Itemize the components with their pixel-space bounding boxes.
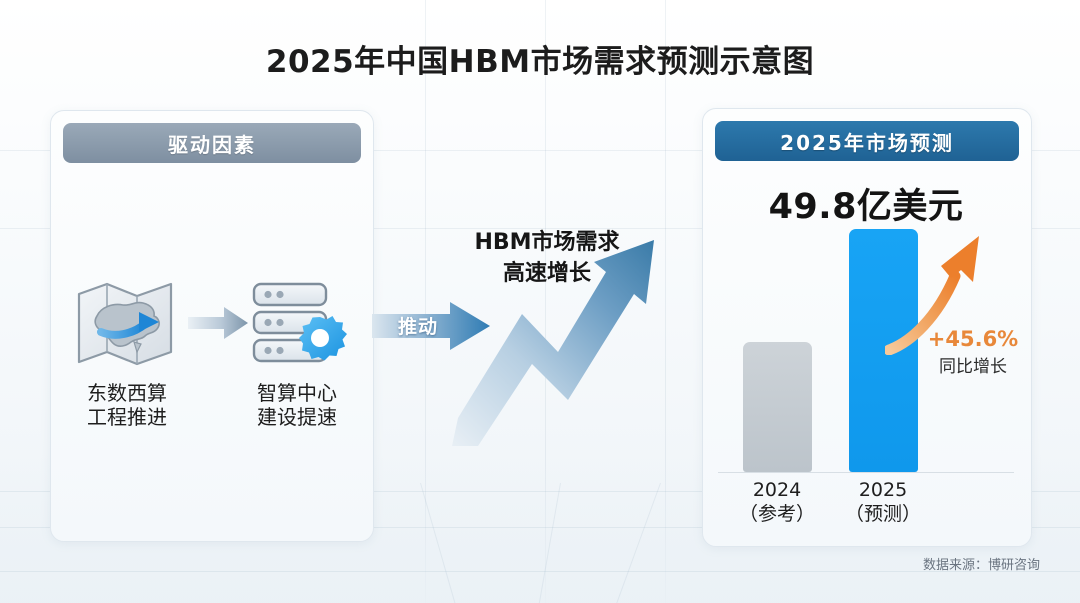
- bar-label-2024-note: （参考）: [739, 503, 815, 525]
- growth-caption-line2: 高速增长: [503, 261, 591, 286]
- bar-2024: [743, 342, 812, 472]
- factor-label-line2: 工程推进: [87, 405, 167, 429]
- bar-label-2025: 2025 （预测）: [818, 478, 948, 527]
- factor-east-data-west-compute: 东数西算 工程推进: [62, 275, 192, 430]
- factor-label: 智算中心 建设提速: [232, 381, 362, 430]
- bar-label-2025-year: 2025: [859, 479, 907, 501]
- factor-label-line1: 智算中心: [257, 381, 337, 405]
- china-map-icon: [62, 275, 192, 375]
- infographic-canvas: 2025年中国HBM市场需求预测示意图 驱动因素: [0, 0, 1080, 603]
- forecast-card-header: 2025年市场预测: [715, 121, 1019, 161]
- server-gear-icon: [232, 275, 362, 375]
- factor-label: 东数西算 工程推进: [62, 381, 192, 430]
- growth-percentage-label: 同比增长: [918, 352, 1028, 377]
- growth-percentage: +45.6%: [918, 327, 1028, 351]
- factor-label-line1: 东数西算: [87, 381, 167, 405]
- chart-baseline: [718, 472, 1014, 473]
- factor-label-line2: 建设提速: [257, 405, 337, 429]
- factor-intelligent-compute-center: 智算中心 建设提速: [232, 275, 362, 430]
- headline-value: 49.8亿美元: [702, 178, 1030, 229]
- page-title: 2025年中国HBM市场需求预测示意图: [0, 36, 1080, 81]
- bar-label-2024-year: 2024: [753, 479, 801, 501]
- growth-caption-line1: HBM市场需求: [474, 230, 619, 255]
- source-note: 数据来源：博研咨询: [830, 554, 1040, 573]
- growth-caption: HBM市场需求 高速增长: [452, 228, 642, 290]
- bar-label-2025-note: （预测）: [845, 503, 921, 525]
- drivers-card-header: 驱动因素: [63, 123, 361, 163]
- push-label: 推动: [383, 312, 453, 339]
